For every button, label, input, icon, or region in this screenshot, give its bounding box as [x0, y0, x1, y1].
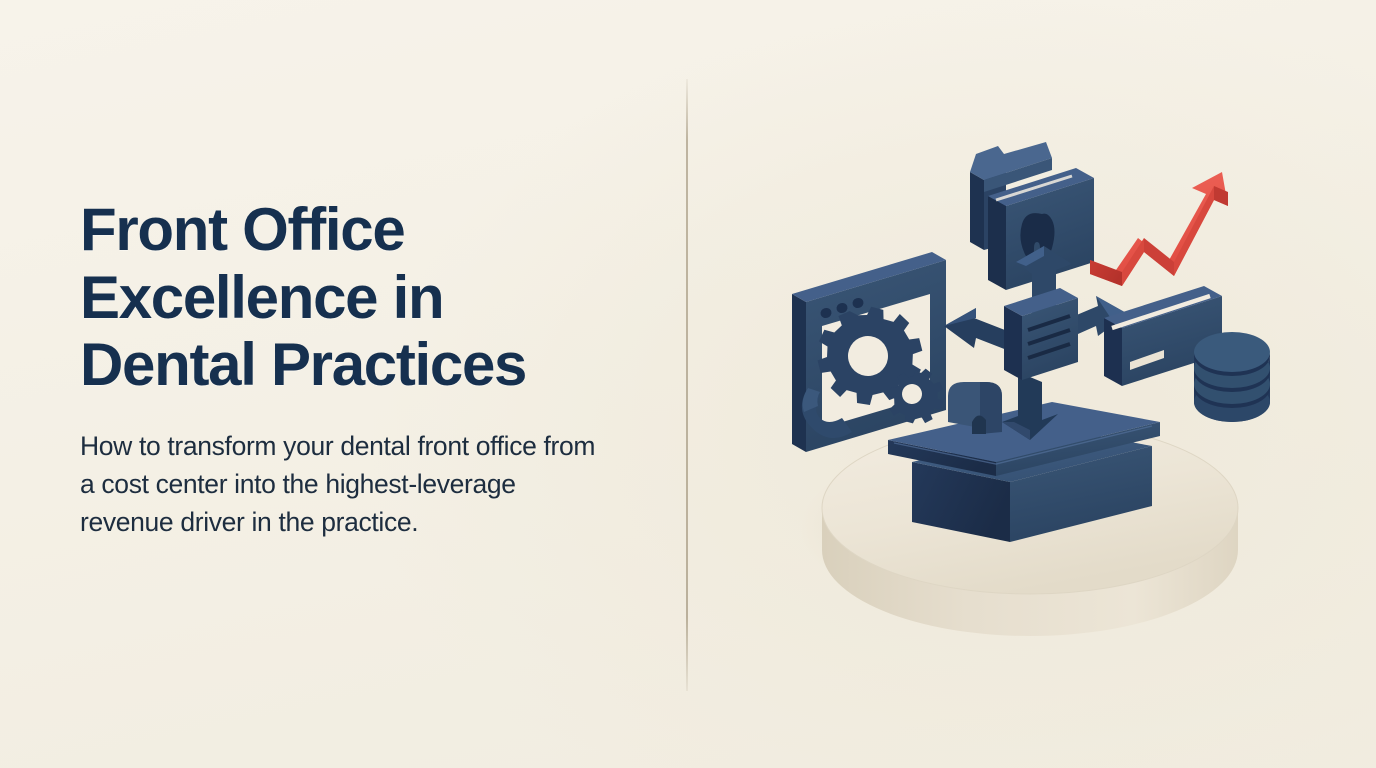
coin-stack-icon [1194, 332, 1270, 422]
page-title: Front OfficeExcellence inDental Practice… [80, 196, 620, 399]
vertical-divider [686, 79, 688, 691]
growth-arrow-icon [1090, 172, 1228, 286]
hero-illustration [760, 110, 1320, 670]
headline-line-1: Front Office [80, 196, 404, 263]
headline-line-3: Dental Practices [80, 331, 526, 398]
text-column: Front OfficeExcellence inDental Practice… [80, 196, 620, 542]
slide-canvas: Front OfficeExcellence inDental Practice… [0, 0, 1376, 768]
browser-window-card [792, 252, 947, 452]
headline-line-2: Excellence in [80, 264, 443, 331]
page-subtitle: How to transform your dental front offic… [80, 427, 596, 542]
